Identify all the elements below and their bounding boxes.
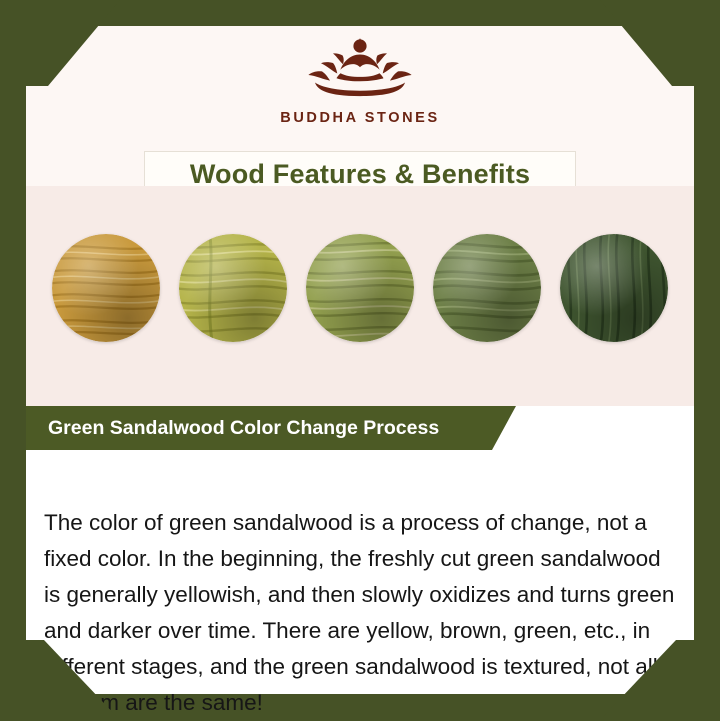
body-area: The color of green sandalwood is a proce…: [26, 450, 694, 694]
swatch-shading: [52, 234, 160, 342]
swatch-shading: [306, 234, 414, 342]
swatch-shading: [560, 234, 668, 342]
swatch-stage-4: [433, 234, 541, 342]
section-band-shape: Green Sandalwood Color Change Process: [26, 406, 516, 450]
poster-header: BUDDHA STONES Wood Features & Benefits: [26, 26, 694, 186]
poster-canvas: BUDDHA STONES Wood Features & Benefits: [26, 26, 694, 694]
frame-border-left: [0, 0, 26, 720]
frame-border-right: [694, 0, 720, 720]
poster-root: BUDDHA STONES Wood Features & Benefits: [0, 0, 720, 720]
brand-name: BUDDHA STONES: [280, 110, 439, 126]
swatch-shading: [179, 234, 287, 342]
swatch-strip: [26, 186, 694, 406]
page-title-text: Wood Features & Benefits: [190, 159, 530, 190]
section-label: Green Sandalwood Color Change Process: [26, 417, 439, 440]
swatch-stage-2: [179, 234, 287, 342]
swatch-stage-5: [560, 234, 668, 342]
body-paragraph: The color of green sandalwood is a proce…: [44, 505, 678, 721]
swatch-stage-3: [306, 234, 414, 342]
swatch-row: [26, 234, 694, 342]
section-band: Green Sandalwood Color Change Process: [26, 406, 694, 450]
swatch-shading: [433, 234, 541, 342]
lotus-meditation-icon: [285, 32, 435, 106]
swatch-stage-1: [52, 234, 160, 342]
brand-logo: BUDDHA STONES: [26, 32, 694, 126]
